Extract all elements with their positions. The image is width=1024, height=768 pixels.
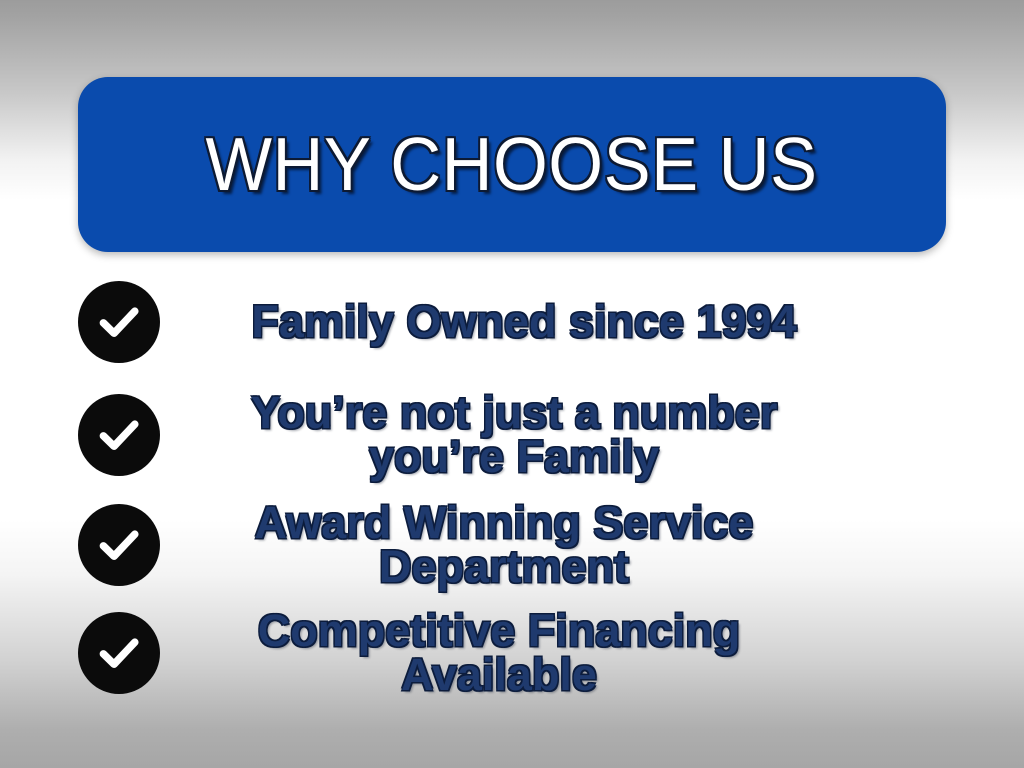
check-circle-icon xyxy=(78,504,160,586)
list-item-label: You’re not just a number you’re Family xyxy=(194,391,834,479)
check-circle-icon xyxy=(78,612,160,694)
list-item-label: Competitive Financing Available xyxy=(194,609,804,697)
slide-canvas: WHY CHOOSE US Family Owned since 1994 Yo… xyxy=(0,0,1024,768)
list-item: You’re not just a number you’re Family xyxy=(78,391,834,479)
check-circle-icon xyxy=(78,394,160,476)
header-banner: WHY CHOOSE US xyxy=(78,77,946,252)
page-title: WHY CHOOSE US xyxy=(206,127,818,202)
list-item: Family Owned since 1994 xyxy=(78,281,854,363)
check-circle-icon xyxy=(78,281,160,363)
list-item-label: Family Owned since 1994 xyxy=(194,300,854,344)
list-item: Award Winning Service Department xyxy=(78,501,814,589)
list-item-label: Award Winning Service Department xyxy=(194,501,814,589)
list-item: Competitive Financing Available xyxy=(78,609,804,697)
